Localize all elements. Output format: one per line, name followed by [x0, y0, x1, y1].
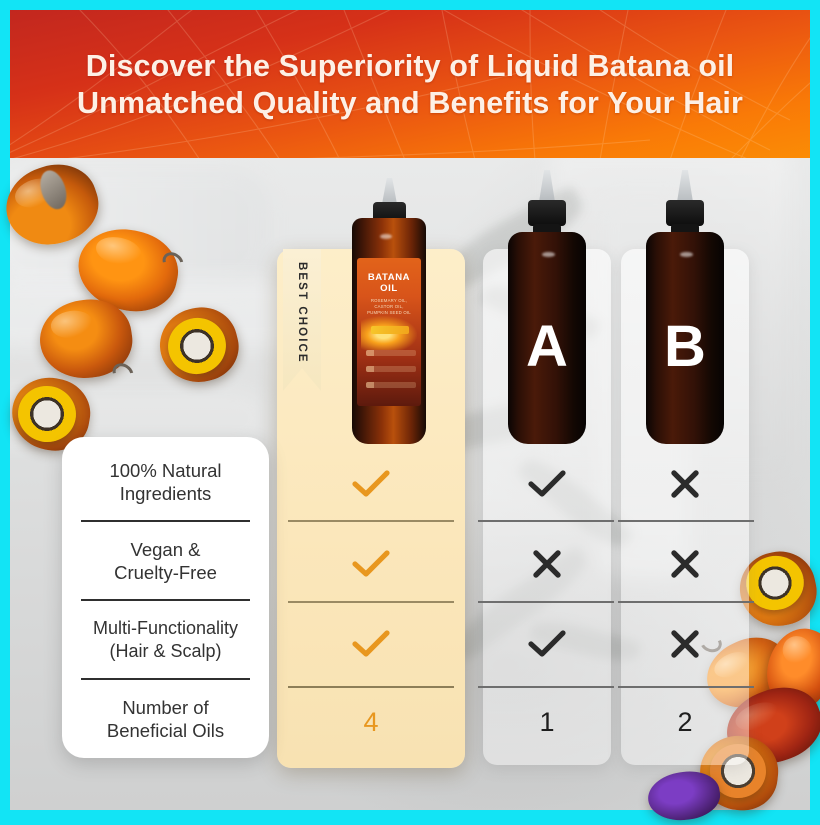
cell-b-row2: [621, 608, 749, 680]
cell-a-row1: [483, 528, 611, 600]
cell-a-row0: [483, 448, 611, 520]
cell-batana-row2: [277, 608, 465, 680]
competitor-a-bottle: A: [508, 178, 586, 444]
bottle-letter-a: A: [508, 318, 586, 376]
bottle-highlight: [380, 234, 392, 239]
label-badge: [371, 326, 409, 334]
bottle-cap: [666, 200, 704, 226]
bottle-label-subtitle: ROSEMARY OIL, CASTOR OIL, PUMPKIN SEED O…: [357, 298, 421, 316]
cell-batana-row1: [277, 528, 465, 600]
value-batana-oils: 4: [363, 707, 378, 738]
cross-icon: [668, 547, 702, 581]
value-b-oils: 2: [677, 707, 692, 738]
cell-b-row3: 2: [621, 692, 749, 752]
infographic-frame: Discover the Superiority of Liquid Batan…: [0, 0, 820, 820]
row-divider: [618, 601, 754, 603]
competitor-b-bottle: B: [646, 178, 724, 444]
cell-batana-row3: 4: [277, 692, 465, 752]
check-icon: [351, 469, 391, 499]
row-divider: [618, 520, 754, 522]
banner-title-line1: Discover the Superiority of Liquid Batan…: [10, 48, 810, 85]
row-divider: [478, 601, 614, 603]
check-icon: [527, 629, 567, 659]
cross-icon: [668, 627, 702, 661]
cross-icon: [668, 467, 702, 501]
cell-a-row3: 1: [483, 692, 611, 752]
bottle-letter-b: B: [646, 318, 724, 376]
cell-batana-row0: [277, 448, 465, 520]
label-feature-line: [366, 350, 416, 356]
row-divider: [288, 601, 454, 603]
bottle-highlight: [542, 252, 555, 257]
row-divider: [478, 686, 614, 688]
value-a-oils: 1: [539, 707, 554, 738]
check-icon: [351, 549, 391, 579]
check-icon: [527, 469, 567, 499]
banner-title: Discover the Superiority of Liquid Batan…: [10, 48, 810, 122]
cross-icon: [530, 547, 564, 581]
check-icon: [351, 629, 391, 659]
bottle-label-title: BATANA OIL: [357, 272, 421, 294]
feature-label-2: Multi-Functionality (Hair & Scalp): [62, 617, 269, 663]
feature-label-1: Vegan & Cruelty-Free: [62, 538, 269, 584]
label-feature-line: [366, 366, 416, 372]
header-banner: Discover the Superiority of Liquid Batan…: [10, 10, 810, 158]
feature-labels-card: 100% Natural Ingredients Vegan & Cruelty…: [62, 437, 269, 758]
batana-oil-bottle: BATANA OIL ROSEMARY OIL, CASTOR OIL, PUM…: [352, 196, 426, 444]
row-divider: [288, 520, 454, 522]
row-divider: [81, 678, 250, 680]
cell-a-row2: [483, 608, 611, 680]
feature-label-3: Number of Beneficial Oils: [62, 696, 269, 742]
row-divider: [81, 520, 250, 522]
row-divider: [81, 599, 250, 601]
row-divider: [618, 686, 754, 688]
cell-b-row0: [621, 448, 749, 520]
banner-title-line2: Unmatched Quality and Benefits for Your …: [10, 85, 810, 122]
bottle-cap: [528, 200, 566, 226]
cell-b-row1: [621, 528, 749, 600]
feature-label-0: 100% Natural Ingredients: [62, 459, 269, 505]
row-divider: [478, 520, 614, 522]
row-divider: [288, 686, 454, 688]
label-feature-line: [366, 382, 416, 388]
best-choice-label: BEST CHOICE: [296, 262, 308, 364]
bottle-highlight: [680, 252, 693, 257]
bottle-label: BATANA OIL ROSEMARY OIL, CASTOR OIL, PUM…: [357, 258, 421, 406]
